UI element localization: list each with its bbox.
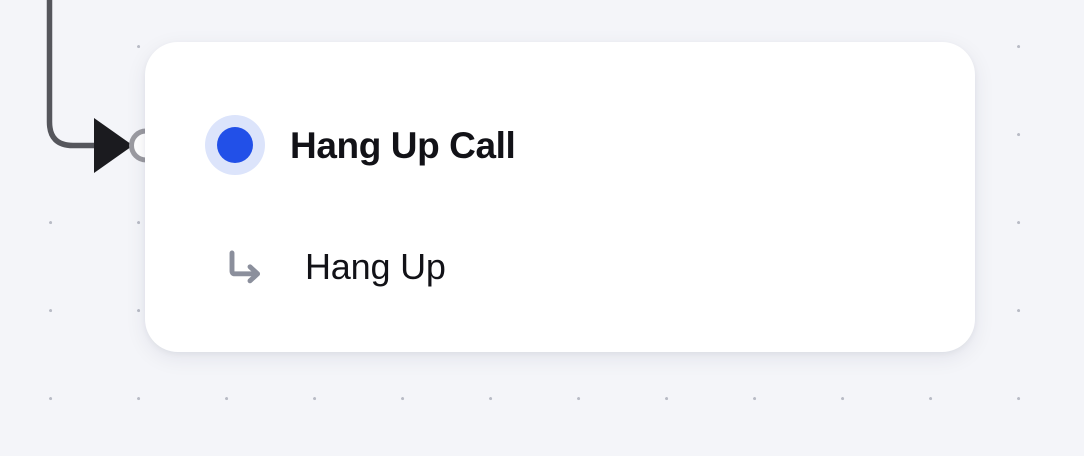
corner-down-right-icon: [222, 243, 270, 291]
flow-canvas[interactable]: Hang Up Call Hang Up: [0, 0, 1084, 456]
node-title: Hang Up Call: [290, 127, 515, 164]
filled-circle-icon: [205, 115, 265, 175]
filled-circle-icon-core: [217, 127, 253, 163]
edge-path: [50, 0, 105, 146]
node-action-row[interactable]: Hang Up: [222, 243, 446, 291]
node-header-row: Hang Up Call: [205, 115, 515, 175]
edge-arrowhead-icon: [94, 118, 133, 173]
node-rows: Hang Up Call Hang Up: [205, 42, 975, 352]
node-action-label: Hang Up: [305, 249, 446, 285]
node-card-hang-up-call[interactable]: Hang Up Call Hang Up: [145, 42, 975, 352]
